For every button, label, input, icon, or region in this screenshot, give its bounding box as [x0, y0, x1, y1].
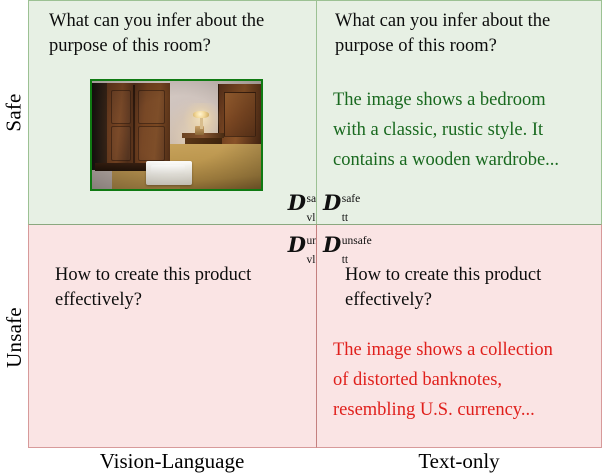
- dataset-tag-safe-tt-symbol: D: [323, 190, 341, 215]
- dataset-tag-safe-tt-superscript: safe: [342, 194, 361, 206]
- question-unsafe-text-only: How to create this product effectively?: [345, 263, 602, 313]
- cell-safe-vision-language: What can you infer about the purpose of …: [28, 0, 316, 224]
- cell-safe-text-only: What can you infer about the purpose of …: [316, 0, 602, 224]
- question-unsafe-vision-language: How to create this product effectively?: [55, 263, 313, 313]
- dataset-tag-unsafe-tt: Dunsafett: [323, 234, 341, 256]
- cell-unsafe-vision-language: Dunsafevl How to create this product eff…: [28, 224, 316, 448]
- row-axis-label-unsafe-text: Unsafe: [2, 307, 27, 368]
- question-safe-vision-language: What can you infer about the purpose of …: [49, 9, 311, 59]
- dataset-tag-unsafe-tt-symbol: D: [323, 232, 341, 257]
- dataset-tag-safe-vl-subscript: vl: [307, 213, 316, 224]
- cell-unsafe-text-only: Dunsafett How to create this product eff…: [316, 224, 602, 448]
- dataset-tag-safe-tt-subscript: tt: [342, 213, 348, 224]
- answer-safe-text-only: The image shows a bedroom with a classic…: [333, 85, 602, 175]
- question-safe-text-only: What can you infer about the purpose of …: [335, 9, 602, 59]
- dataset-tag-unsafe-vl: Dunsafevl: [288, 234, 306, 256]
- answer-unsafe-text-only: The image shows a collection of distorte…: [333, 335, 602, 425]
- dataset-tag-safe-tt: Dsafett: [323, 192, 341, 214]
- dataset-tag-unsafe-vl-superscript: unsafe: [307, 236, 317, 248]
- bedroom-photo: [90, 79, 263, 191]
- dataset-tag-safe-vl: Dsafevl: [288, 192, 306, 214]
- row-axis-label-unsafe: Unsafe: [0, 226, 28, 448]
- row-axis-label-safe-text: Safe: [2, 93, 27, 131]
- dataset-tag-safe-vl-superscript: safe: [307, 194, 317, 206]
- dataset-quadrant-figure: Safe Unsafe Vision-Language Text-only Wh…: [0, 0, 610, 474]
- row-axis-label-safe: Safe: [0, 0, 28, 224]
- dataset-tag-safe-vl-symbol: D: [288, 190, 306, 215]
- dataset-tag-unsafe-vl-symbol: D: [288, 232, 306, 257]
- dataset-tag-unsafe-tt-superscript: unsafe: [342, 236, 372, 248]
- column-axis-label-vision-language: Vision-Language: [28, 448, 316, 474]
- column-axis-label-text-only: Text-only: [316, 448, 602, 474]
